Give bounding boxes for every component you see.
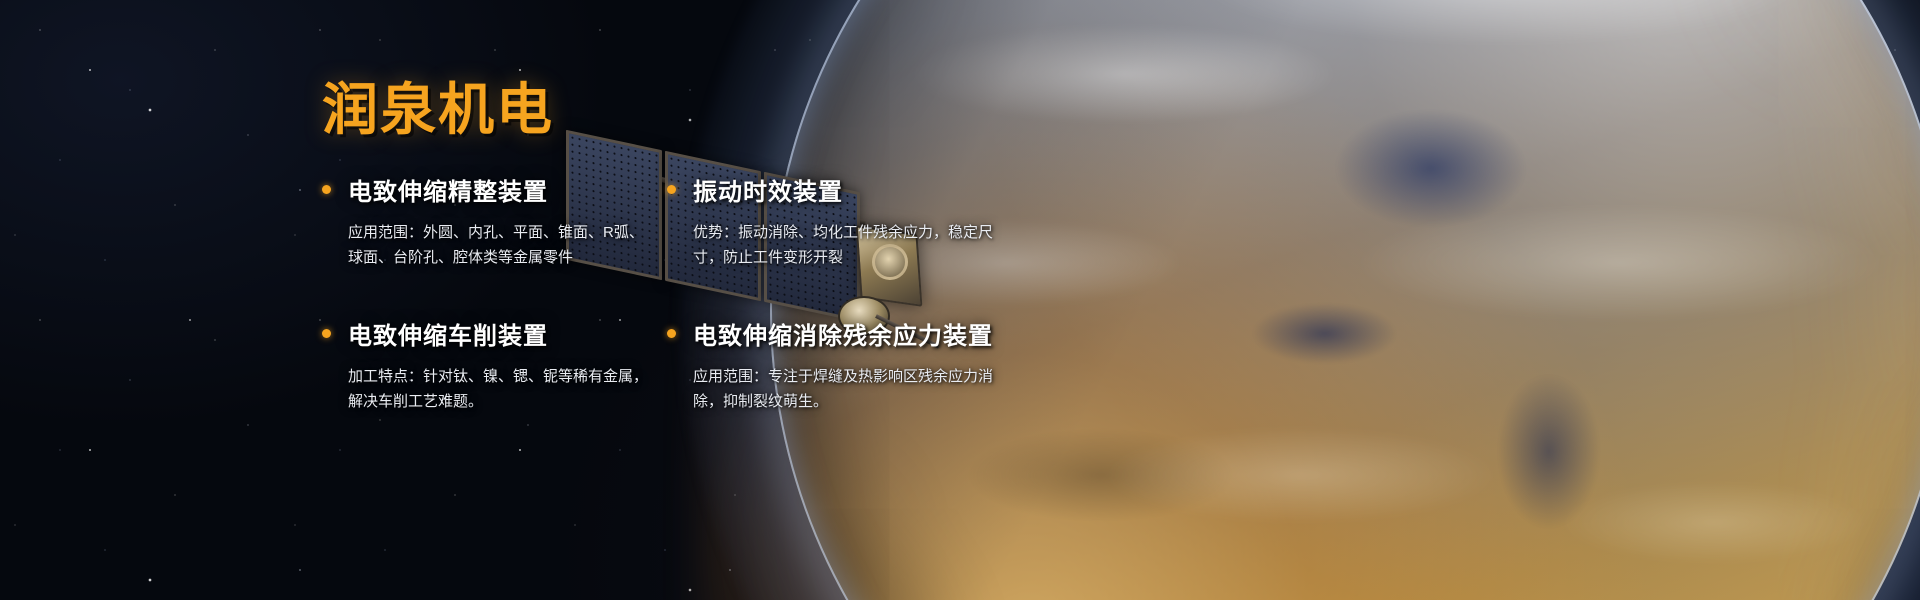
feature-4-head: 电致伸缩消除残余应力装置 — [667, 316, 997, 351]
feature-grid: 电致伸缩精整装置 应用范围：外圆、内孔、平面、锥面、R弧、球面、台阶孔、腔体类等… — [322, 172, 1022, 414]
feature-3-description: 加工特点：针对钛、镍、锶、铌等稀有金属，解决车削工艺难题。 — [348, 364, 648, 414]
feature-item-3[interactable]: 电致伸缩车削装置 加工特点：针对钛、镍、锶、铌等稀有金属，解决车削工艺难题。 — [322, 316, 652, 414]
bullet-dot-icon — [322, 185, 331, 194]
feature-1-description: 应用范围：外圆、内孔、平面、锥面、R弧、球面、台阶孔、腔体类等金属零件 — [348, 220, 648, 270]
feature-item-4[interactable]: 电致伸缩消除残余应力装置 应用范围：专注于焊缝及热影响区残余应力消除，抑制裂纹萌… — [667, 316, 997, 414]
bullet-dot-icon — [322, 329, 331, 338]
feature-2-head: 振动时效装置 — [667, 172, 997, 207]
feature-row-1: 电致伸缩精整装置 应用范围：外圆、内孔、平面、锥面、R弧、球面、台阶孔、腔体类等… — [322, 172, 1022, 270]
feature-3-head: 电致伸缩车削装置 — [322, 316, 652, 351]
feature-item-1[interactable]: 电致伸缩精整装置 应用范围：外圆、内孔、平面、锥面、R弧、球面、台阶孔、腔体类等… — [322, 172, 652, 270]
hero-banner: 润泉机电 电致伸缩精整装置 应用范围：外圆、内孔、平面、锥面、R弧、球面、台阶孔… — [0, 0, 1920, 600]
feature-4-heading: 电致伸缩消除残余应力装置 — [693, 316, 993, 351]
feature-2-description: 优势：振动消除、均化工件残余应力，稳定尺寸，防止工件变形开裂 — [693, 220, 998, 270]
bullet-dot-icon — [667, 329, 676, 338]
feature-3-heading: 电致伸缩车削装置 — [348, 316, 548, 351]
feature-2-heading: 振动时效装置 — [693, 172, 843, 207]
feature-item-2[interactable]: 振动时效装置 优势：振动消除、均化工件残余应力，稳定尺寸，防止工件变形开裂 — [667, 172, 997, 270]
bullet-dot-icon — [667, 185, 676, 194]
page-title: 润泉机电 — [322, 82, 554, 138]
feature-4-description: 应用范围：专注于焊缝及热影响区残余应力消除，抑制裂纹萌生。 — [693, 364, 998, 414]
feature-row-2: 电致伸缩车削装置 加工特点：针对钛、镍、锶、铌等稀有金属，解决车削工艺难题。 电… — [322, 316, 1022, 414]
feature-1-heading: 电致伸缩精整装置 — [348, 172, 548, 207]
feature-row-spacer — [322, 270, 1022, 316]
banner-content: 润泉机电 电致伸缩精整装置 应用范围：外圆、内孔、平面、锥面、R弧、球面、台阶孔… — [0, 0, 1100, 600]
feature-1-head: 电致伸缩精整装置 — [322, 172, 652, 207]
